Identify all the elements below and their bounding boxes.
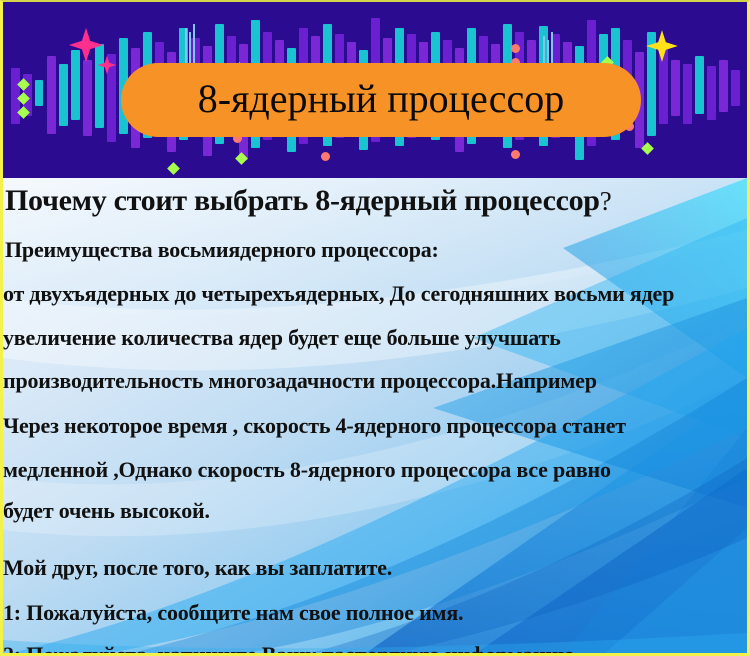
body-line-5: Через некоторое время , скорость 4-ядерн… — [3, 413, 626, 439]
body-line-10: 2: Пожалуйста, напишите Вашу паспортную … — [3, 642, 575, 655]
banner-title: 8-ядерный процессор — [198, 79, 565, 122]
body-line-2: от двухъядерных до четырехъядерных, До с… — [3, 281, 674, 307]
equalizer-bar — [719, 60, 728, 112]
body-line-7: будет очень высокой. — [3, 498, 210, 524]
equalizer-bar — [71, 50, 80, 120]
page-title-text: Почему стоит выбрать 8-ядерный процессор — [5, 184, 600, 217]
equalizer-bar — [95, 44, 104, 128]
page-title: Почему стоит выбрать 8-ядерный процессор… — [5, 184, 611, 218]
slide-root: 8-ядерный процессор — [0, 0, 750, 656]
content-area: Почему стоит выбрать 8-ядерный процессор… — [3, 178, 747, 655]
equalizer-bar — [707, 66, 716, 120]
equalizer-bar — [47, 56, 56, 134]
body-line-8: Мой друг, после того, как вы заплатите. — [3, 555, 392, 581]
diamond-accent-icon — [167, 162, 180, 175]
body-line-9: 1: Пожалуйста, сообщите нам свое полное … — [3, 600, 463, 626]
circle-accent-icon — [321, 152, 330, 161]
title-pill: 8-ядерный процессор — [121, 63, 641, 137]
equalizer-bar — [671, 60, 680, 116]
equalizer-bar — [695, 56, 704, 114]
equalizer-bar — [683, 64, 692, 124]
equalizer-bar — [83, 60, 92, 136]
circle-accent-icon — [511, 150, 520, 159]
slide-text-block: Почему стоит выбрать 8-ядерный процессор… — [3, 178, 747, 655]
body-line-6: медленной ,Однако скорость 8-ядерного пр… — [3, 457, 611, 483]
equalizer-bar — [731, 70, 740, 106]
banner-header: 8-ядерный процессор — [3, 2, 747, 178]
body-line-3: увеличение количества ядер будет еще бол… — [3, 325, 561, 351]
page-title-question-mark: ? — [600, 186, 612, 216]
body-line-1: Преимущества восьмиядерного процессора: — [5, 237, 439, 263]
circle-accent-icon — [511, 44, 520, 53]
body-line-4: производительность многозадачности проце… — [3, 368, 597, 394]
equalizer-bar — [59, 64, 68, 126]
equalizer-bar — [35, 80, 43, 106]
